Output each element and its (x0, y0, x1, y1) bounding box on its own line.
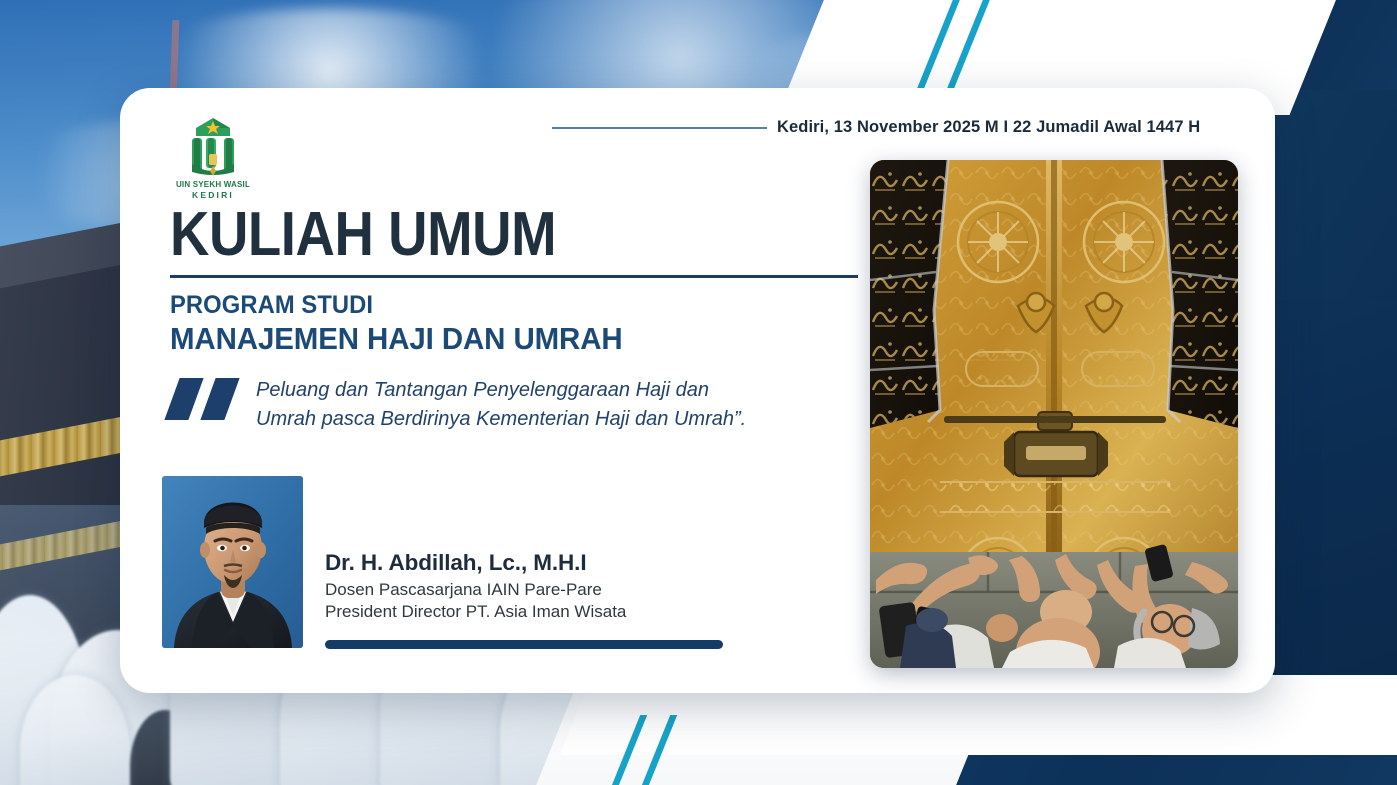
date-rule-line (552, 127, 767, 129)
quote-mark-icon (168, 378, 244, 420)
program-label: PROGRAM STUDI (170, 291, 373, 320)
speaker-name: Dr. H. Abdillah, Lc., M.H.I (325, 550, 845, 576)
speaker-portrait (162, 476, 303, 648)
program-name: MANAJEMEN HAJI DAN UMRAH (170, 321, 623, 357)
quote-line-2: Umrah pasca Berdirinya Kementerian Haji … (256, 405, 848, 434)
speaker-info: Dr. H. Abdillah, Lc., M.H.I Dosen Pascas… (325, 550, 845, 624)
logo-mark-icon (180, 116, 246, 178)
university-logo: UIN SYEKH WASIL KEDIRI (165, 116, 261, 200)
poster-card: UIN SYEKH WASIL KEDIRI Kediri, 13 Novemb… (120, 88, 1275, 693)
quote-line-1: Peluang dan Tantangan Penyelenggaraan Ha… (256, 376, 848, 405)
quote-text: Peluang dan Tantangan Penyelenggaraan Ha… (256, 376, 848, 434)
portrait-illustration (162, 476, 303, 648)
event-date-row: Kediri, 13 November 2025 M I 22 Jumadil … (552, 118, 1242, 137)
speaker-role-line2: President Director PT. Asia Iman Wisata (325, 601, 845, 623)
speaker-role: Dosen Pascasarjana IAIN Pare-Pare Presid… (325, 579, 845, 624)
logo-text-line1: UIN SYEKH WASIL (165, 180, 261, 189)
theme-quote: Peluang dan Tantangan Penyelenggaraan Ha… (168, 376, 848, 434)
title-underline (170, 275, 858, 278)
event-date-text: Kediri, 13 November 2025 M I 22 Jumadil … (777, 118, 1200, 137)
kaaba-door-photo (870, 160, 1238, 668)
kaaba-door-illustration (870, 160, 1238, 668)
logo-text-line2: KEDIRI (165, 190, 261, 200)
speaker-underline-bar (325, 640, 723, 649)
poster-canvas: UIN SYEKH WASIL KEDIRI Kediri, 13 Novemb… (0, 0, 1397, 785)
page-title: KULIAH UMUM (170, 206, 556, 265)
speaker-role-line1: Dosen Pascasarjana IAIN Pare-Pare (325, 579, 845, 601)
